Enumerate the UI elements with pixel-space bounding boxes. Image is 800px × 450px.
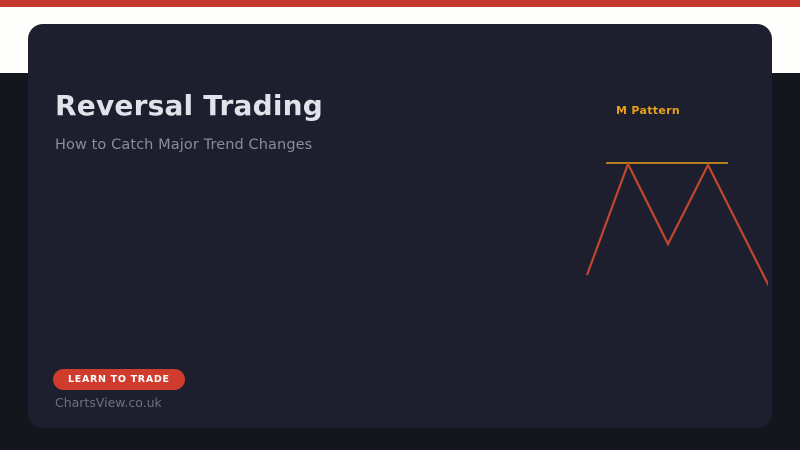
price-path-line <box>587 164 768 324</box>
page-title: Reversal Trading <box>55 89 323 122</box>
page-subtitle: How to Catch Major Trend Changes <box>55 137 312 153</box>
content-card: Reversal Trading How to Catch Major Tren… <box>28 24 772 428</box>
chart-container: M Pattern <box>528 104 768 354</box>
top-accent-bar <box>0 0 800 7</box>
m-pattern-chart <box>528 104 768 354</box>
learn-to-trade-button[interactable]: LEARN TO TRADE <box>53 369 185 390</box>
site-credit: ChartsView.co.uk <box>55 395 162 410</box>
slide-canvas: Reversal Trading How to Catch Major Tren… <box>0 0 800 450</box>
